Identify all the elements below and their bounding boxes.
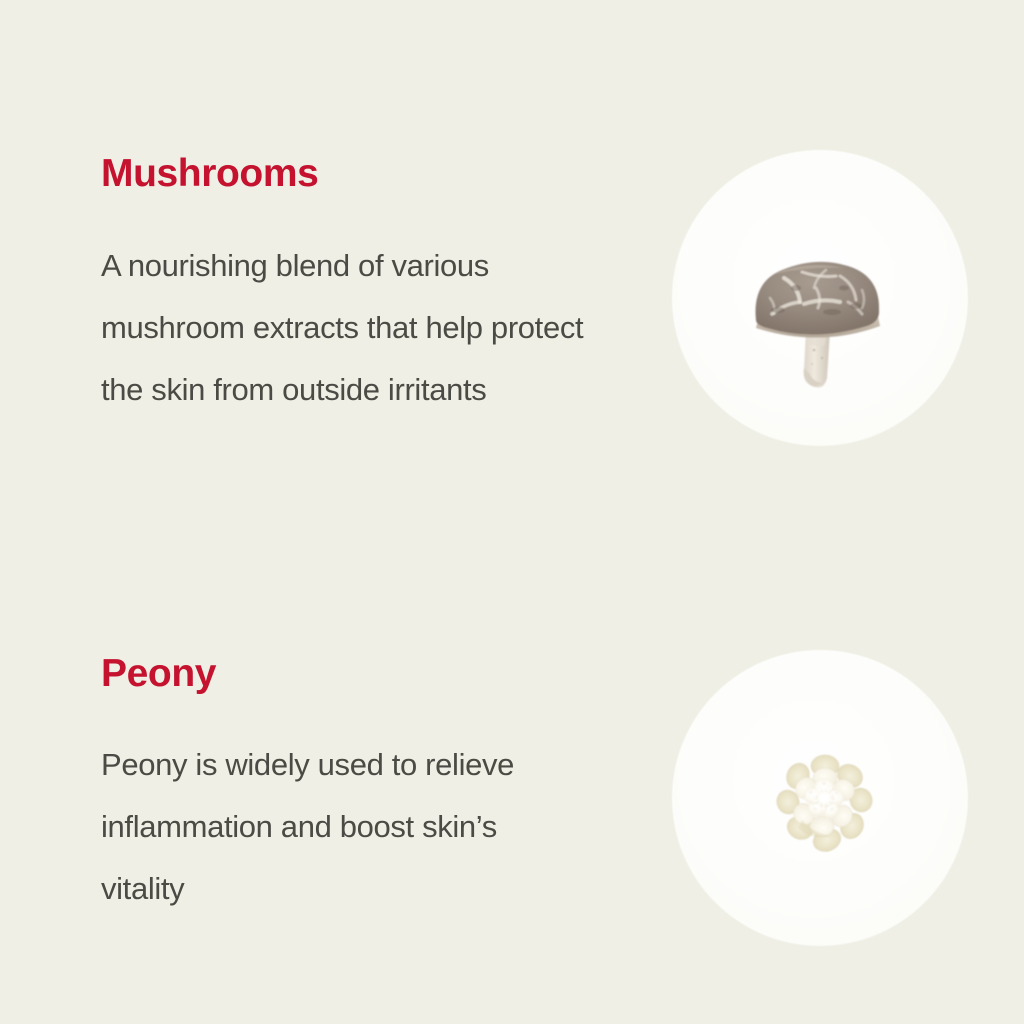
- peony-image-alt: Cream white peony flower with layered pe…: [672, 650, 673, 651]
- peony-text-column: Peony Peony is widely used to relieve in…: [101, 650, 621, 920]
- section-peony: Peony Peony is widely used to relieve in…: [0, 650, 1024, 960]
- mushrooms-media: Shiitake mushroom with brown cracked cap…: [672, 150, 968, 446]
- peony-media: Cream white peony flower with layered pe…: [672, 650, 968, 946]
- mushroom-image-alt: Shiitake mushroom with brown cracked cap…: [672, 150, 673, 151]
- peony-heading: Peony: [101, 650, 621, 698]
- peony-description: Peony is widely used to relieve inflamma…: [101, 734, 571, 920]
- mushrooms-heading: Mushrooms: [101, 150, 621, 198]
- section-mushrooms: Mushrooms A nourishing blend of various …: [0, 150, 1024, 480]
- ingredient-benefits-page: Mushrooms A nourishing blend of various …: [0, 0, 1024, 1024]
- mushroom-icon: [744, 258, 892, 396]
- peony-icon: [772, 750, 878, 856]
- mushrooms-text-column: Mushrooms A nourishing blend of various …: [101, 150, 621, 421]
- mushrooms-description: A nourishing blend of various mushroom e…: [101, 235, 611, 421]
